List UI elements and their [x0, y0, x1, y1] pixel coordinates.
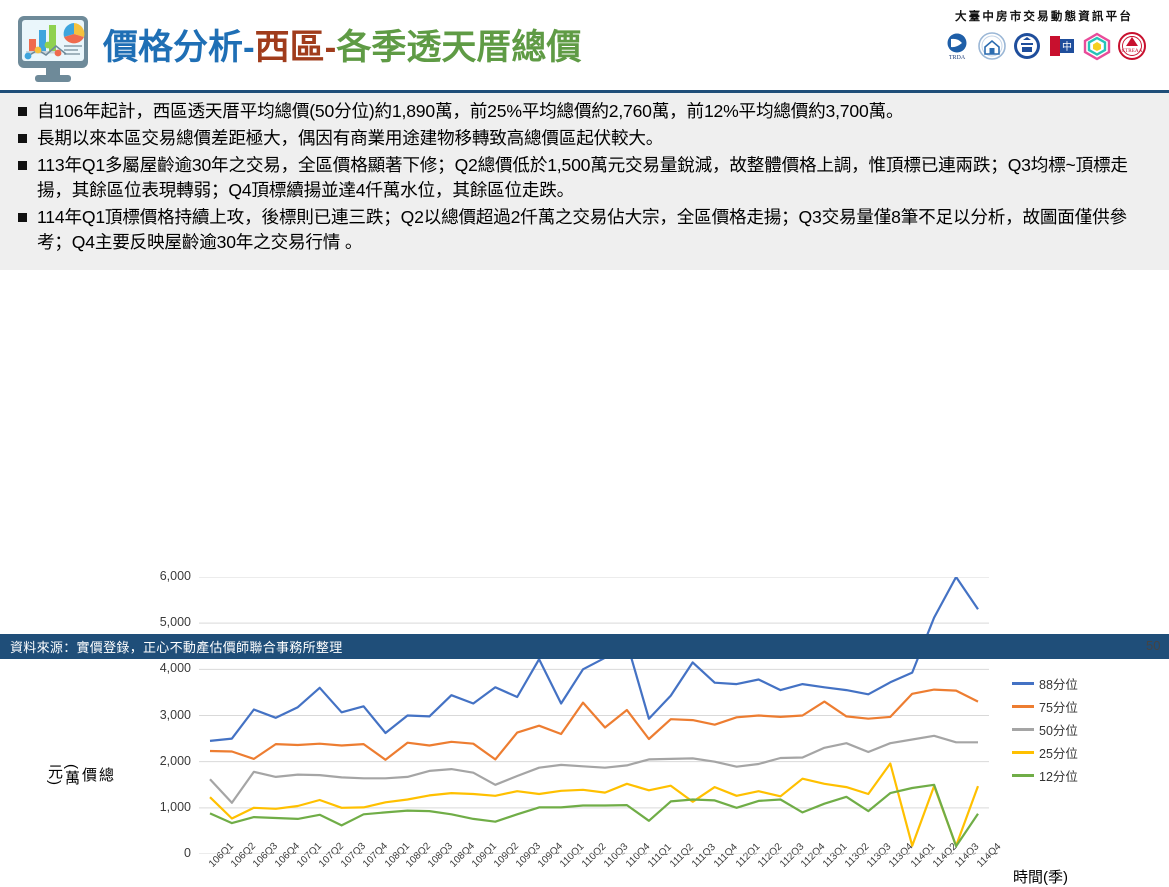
legend-label: 25分位 [1039, 743, 1078, 762]
legend-color-swatch [1012, 728, 1034, 731]
title-part-district: 西區- [255, 28, 337, 67]
legend-item[interactable]: 88分位 [1012, 672, 1122, 695]
legend-item[interactable]: 75分位 [1012, 695, 1122, 718]
red-flag-logo: 中 [1046, 30, 1078, 62]
bullet-text: 自106年起計，西區透天厝平均總價(50分位)約1,890萬，前25%平均總價約… [37, 99, 903, 124]
bullet-square-icon [18, 161, 27, 170]
title-part-subject: 各季透天厝總價 [336, 28, 581, 67]
svg-text:中: 中 [1062, 40, 1072, 53]
bullet-item: 自106年起計，西區透天厝平均總價(50分位)約1,890萬，前25%平均總價約… [0, 99, 1169, 124]
y-axis-title: 總價(萬元) [88, 764, 114, 786]
series-12分位 [210, 785, 978, 846]
bullet-item: 113年Q1多屬屋齡逾30年之交易，全區價格顯著下修；Q2總價低於1,500萬元… [0, 153, 1169, 203]
bullet-square-icon [18, 213, 27, 222]
legend-color-swatch [1012, 774, 1034, 777]
page-number: 50 [1146, 638, 1160, 653]
legend-color-swatch [1012, 682, 1034, 685]
legend-item[interactable]: 25分位 [1012, 741, 1122, 764]
org-logo-row: TRDA [929, 30, 1159, 62]
legend-item[interactable]: 50分位 [1012, 718, 1122, 741]
ctreaa-logo: CTREAA [1116, 30, 1148, 62]
svg-text:TRDA: TRDA [948, 55, 965, 61]
trda-logo: TRDA [941, 30, 973, 62]
y-tick-label: 1,000 [133, 800, 191, 814]
legend-color-swatch [1012, 751, 1034, 754]
bullet-text: 長期以來本區交易總價差距極大，偶因有商業用途建物移轉致高總價區起伏較大。 [37, 126, 663, 151]
y-tick-label: 3,000 [133, 708, 191, 722]
legend-color-swatch [1012, 705, 1034, 708]
bullet-text: 114年Q1頂標價格持續上攻，後標則已連三跌；Q2以總價超過2仟萬之交易佔大宗，… [37, 205, 1157, 255]
house-circle-logo [976, 30, 1008, 62]
page-accent-block [1112, 634, 1140, 659]
legend-label: 12分位 [1039, 766, 1078, 785]
legend-label: 88分位 [1039, 674, 1078, 693]
source-note: 資料來源：實價登錄，正心不動產估價師聯合事務所整理 [10, 637, 343, 656]
legend-item[interactable]: 12分位 [1012, 764, 1122, 787]
svg-text:CTREAA: CTREAA [1121, 48, 1142, 54]
bullet-item: 長期以來本區交易總價差距極大，偶因有商業用途建物移轉致高總價區起伏較大。 [0, 126, 1169, 151]
y-tick-label: 6,000 [133, 569, 191, 583]
plot-area [199, 577, 989, 854]
platform-title: 大臺中房市交易動態資訊平台 [929, 8, 1159, 24]
y-tick-label: 0 [133, 846, 191, 860]
cube-logo [1081, 30, 1113, 62]
bullet-square-icon [18, 107, 27, 116]
summary-notes: 自106年起計，西區透天厝平均總價(50分位)約1,890萬，前25%平均總價約… [0, 93, 1169, 270]
page-title: 價格分析-西區-各季透天厝總價 [103, 20, 581, 76]
bullet-square-icon [18, 134, 27, 143]
title-part-analysis: 價格分析- [103, 28, 255, 67]
bullet-text: 113年Q1多屬屋齡逾30年之交易，全區價格顯著下修；Q2總價低於1,500萬元… [37, 153, 1157, 203]
appraiser-seal-logo [1011, 30, 1043, 62]
page-header: 價格分析-西區-各季透天厝總價 大臺中房市交易動態資訊平台 TRDA [0, 0, 1169, 92]
legend-label: 50分位 [1039, 720, 1078, 739]
y-tick-label: 4,000 [133, 661, 191, 675]
platform-branding: 大臺中房市交易動態資訊平台 TRDA [929, 8, 1159, 62]
y-tick-label: 2,000 [133, 754, 191, 768]
bullet-item: 114年Q1頂標價格持續上攻，後標則已連三跌；Q2以總價超過2仟萬之交易佔大宗，… [0, 205, 1169, 255]
price-trend-chart: 總價(萬元) 時間(季) 01,0002,0003,0004,0005,0006… [0, 272, 1169, 630]
monitor-analytics-icon [12, 12, 94, 88]
x-axis-title: 時間(季) [1013, 866, 1068, 887]
chart-legend: 88分位75分位50分位25分位12分位 [1012, 672, 1122, 787]
legend-label: 75分位 [1039, 697, 1078, 716]
series-lines [199, 577, 989, 854]
y-tick-label: 5,000 [133, 615, 191, 629]
